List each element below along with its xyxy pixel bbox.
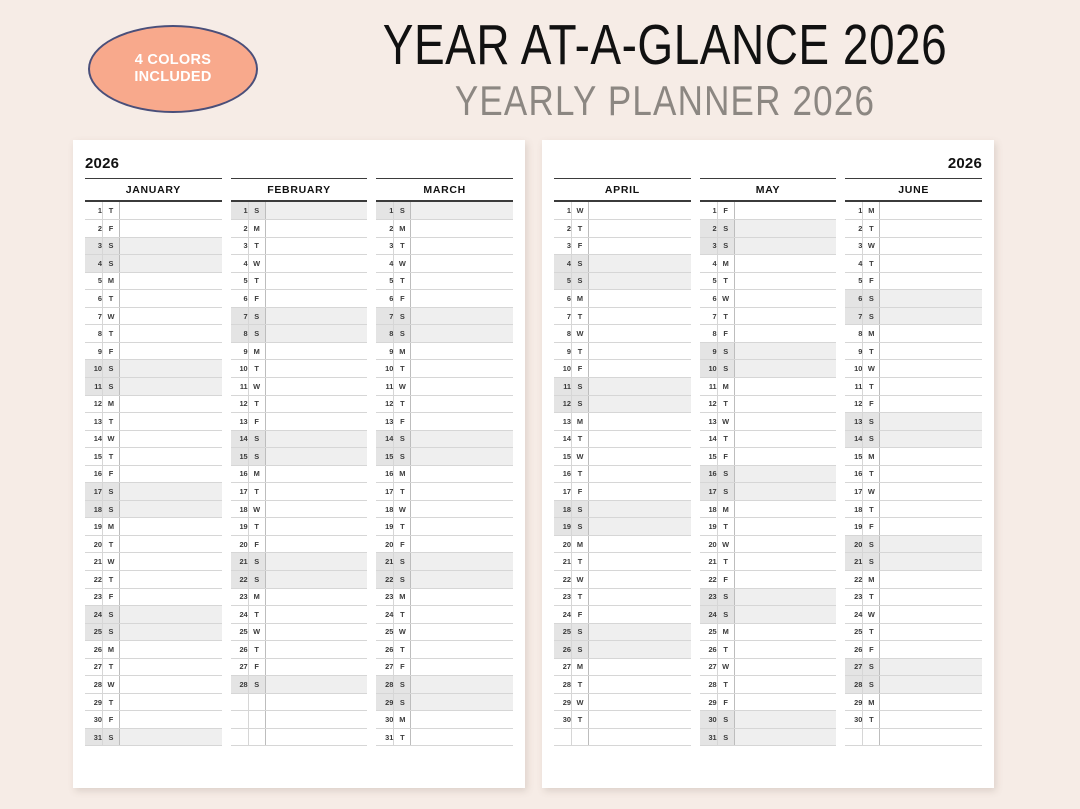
day-number: 6	[376, 290, 394, 308]
day-note-field[interactable]	[411, 430, 513, 448]
day-note-field[interactable]	[120, 693, 222, 711]
day-note-field[interactable]	[880, 360, 982, 378]
day-of-week: S	[717, 606, 734, 624]
day-row: 12T	[700, 395, 837, 413]
day-number: 16	[554, 465, 572, 483]
day-note-field[interactable]	[880, 570, 982, 588]
day-number: 17	[554, 483, 572, 501]
day-note-field[interactable]	[265, 518, 367, 536]
day-note-field[interactable]	[411, 483, 513, 501]
day-note-field[interactable]	[265, 606, 367, 624]
day-note-field[interactable]	[120, 290, 222, 308]
day-note-field[interactable]	[589, 360, 691, 378]
day-number: 12	[554, 395, 572, 413]
day-row: 7S	[376, 307, 513, 325]
day-note-field[interactable]	[734, 255, 836, 273]
day-note-field[interactable]	[265, 360, 367, 378]
day-note-field[interactable]	[734, 658, 836, 676]
day-number: 7	[700, 307, 718, 325]
day-row: 30T	[554, 711, 691, 729]
day-note-field[interactable]	[589, 290, 691, 308]
day-note-field[interactable]	[734, 377, 836, 395]
day-number: 15	[700, 448, 718, 466]
day-row: 16S	[700, 465, 837, 483]
day-note-field[interactable]	[411, 395, 513, 413]
day-note-field[interactable]	[411, 360, 513, 378]
day-note-field[interactable]	[880, 728, 982, 746]
day-of-week: T	[103, 535, 120, 553]
day-note-field[interactable]	[411, 588, 513, 606]
day-row: 15S	[376, 448, 513, 466]
day-row: 11M	[700, 377, 837, 395]
day-note-field[interactable]	[589, 342, 691, 360]
day-note-field[interactable]	[734, 676, 836, 694]
day-of-week: W	[103, 307, 120, 325]
day-note-field[interactable]	[265, 290, 367, 308]
day-note-field[interactable]	[880, 623, 982, 641]
day-number: 11	[700, 377, 718, 395]
day-note-field[interactable]	[265, 623, 367, 641]
day-note-field[interactable]	[880, 588, 982, 606]
day-row: 29T	[85, 693, 222, 711]
day-number: 2	[376, 220, 394, 238]
day-note-field[interactable]	[880, 535, 982, 553]
day-note-field[interactable]	[265, 395, 367, 413]
day-row: 6W	[700, 290, 837, 308]
day-number: 1	[554, 202, 572, 220]
day-note-field[interactable]	[734, 220, 836, 238]
day-note-field[interactable]	[734, 430, 836, 448]
badge-line-1: 4 COLORS	[135, 52, 212, 69]
day-row: 13F	[231, 413, 368, 431]
day-note-field[interactable]	[411, 307, 513, 325]
day-note-field[interactable]	[120, 360, 222, 378]
day-note-field[interactable]	[880, 290, 982, 308]
day-note-field[interactable]	[880, 693, 982, 711]
day-of-week: T	[572, 307, 589, 325]
day-note-field[interactable]	[880, 606, 982, 624]
day-note-field[interactable]	[880, 272, 982, 290]
day-note-field[interactable]	[120, 535, 222, 553]
day-note-field[interactable]	[589, 553, 691, 571]
day-note-field[interactable]	[265, 237, 367, 255]
day-note-field[interactable]	[265, 641, 367, 659]
day-note-field[interactable]	[734, 272, 836, 290]
day-note-field[interactable]	[734, 395, 836, 413]
day-row: 7T	[700, 307, 837, 325]
day-of-week: W	[717, 658, 734, 676]
day-note-field[interactable]	[734, 483, 836, 501]
day-number: 29	[376, 693, 394, 711]
day-of-week: T	[572, 553, 589, 571]
day-note-field[interactable]	[589, 535, 691, 553]
day-number: 28	[231, 676, 249, 694]
day-note-field[interactable]	[411, 202, 513, 220]
day-of-week: T	[103, 325, 120, 343]
day-note-field[interactable]	[265, 377, 367, 395]
day-number: 10	[700, 360, 718, 378]
day-note-field[interactable]	[734, 553, 836, 571]
day-of-week: M	[248, 342, 265, 360]
day-note-field[interactable]	[880, 220, 982, 238]
day-note-field[interactable]	[265, 272, 367, 290]
day-note-field[interactable]	[734, 500, 836, 518]
day-note-field[interactable]	[120, 570, 222, 588]
day-note-field[interactable]	[120, 255, 222, 273]
day-note-field[interactable]	[120, 553, 222, 571]
day-number: 2	[845, 220, 863, 238]
promo-header: 4 COLORS INCLUDED YEAR AT-A-GLANCE 2026 …	[0, 0, 1080, 132]
day-note-field[interactable]	[880, 518, 982, 536]
day-of-week: W	[248, 623, 265, 641]
day-note-field[interactable]	[589, 202, 691, 220]
day-note-field[interactable]	[120, 676, 222, 694]
day-number: 31	[376, 728, 394, 746]
day-row: 4T	[845, 255, 982, 273]
day-row: 7T	[554, 307, 691, 325]
day-note-field[interactable]	[734, 711, 836, 729]
day-note-field[interactable]	[880, 676, 982, 694]
day-note-field[interactable]	[265, 465, 367, 483]
day-note-field[interactable]	[265, 483, 367, 501]
day-note-field[interactable]	[734, 290, 836, 308]
day-row: 5M	[85, 272, 222, 290]
day-row: 5T	[376, 272, 513, 290]
day-note-field[interactable]	[589, 588, 691, 606]
day-note-field[interactable]	[120, 325, 222, 343]
day-of-week: S	[394, 448, 411, 466]
day-note-field[interactable]	[120, 606, 222, 624]
day-note-field[interactable]	[120, 202, 222, 220]
day-note-field[interactable]	[265, 711, 367, 729]
day-note-field[interactable]	[589, 395, 691, 413]
day-note-field[interactable]	[589, 658, 691, 676]
day-note-field[interactable]	[589, 272, 691, 290]
day-note-field[interactable]	[265, 535, 367, 553]
day-number: 11	[231, 377, 249, 395]
day-note-field[interactable]	[734, 342, 836, 360]
day-note-field[interactable]	[411, 413, 513, 431]
day-row: 23M	[231, 588, 368, 606]
day-note-field[interactable]	[120, 483, 222, 501]
day-of-week: T	[572, 465, 589, 483]
day-note-field[interactable]	[411, 535, 513, 553]
day-note-field[interactable]	[880, 325, 982, 343]
day-note-field[interactable]	[880, 658, 982, 676]
day-note-field[interactable]	[734, 588, 836, 606]
month-name-label: FEBRUARY	[231, 178, 368, 202]
day-note-field[interactable]	[589, 413, 691, 431]
day-row: 31S	[85, 728, 222, 746]
day-note-field[interactable]	[265, 220, 367, 238]
day-note-field[interactable]	[265, 570, 367, 588]
day-note-field[interactable]	[265, 676, 367, 694]
day-note-field[interactable]	[589, 623, 691, 641]
day-note-field[interactable]	[734, 237, 836, 255]
day-note-field[interactable]	[265, 728, 367, 746]
day-of-week: S	[103, 377, 120, 395]
day-note-field[interactable]	[411, 570, 513, 588]
day-note-field[interactable]	[880, 553, 982, 571]
day-of-week: S	[103, 500, 120, 518]
day-note-field[interactable]	[411, 255, 513, 273]
day-row: 29F	[700, 693, 837, 711]
day-note-field[interactable]	[120, 307, 222, 325]
day-of-week: M	[394, 588, 411, 606]
day-number: 24	[85, 606, 103, 624]
day-note-field[interactable]	[265, 325, 367, 343]
day-note-field[interactable]	[265, 430, 367, 448]
day-note-field[interactable]	[589, 255, 691, 273]
day-row: 22S	[376, 570, 513, 588]
day-number: 20	[845, 535, 863, 553]
day-note-field[interactable]	[734, 448, 836, 466]
day-note-field[interactable]	[411, 693, 513, 711]
day-note-field[interactable]	[265, 255, 367, 273]
day-number: 28	[554, 676, 572, 694]
title-block: YEAR AT-A-GLANCE 2026 YEARLY PLANNER 202…	[265, 14, 1065, 117]
day-note-field[interactable]	[265, 307, 367, 325]
day-number: 15	[85, 448, 103, 466]
day-note-field[interactable]	[880, 430, 982, 448]
day-of-week: F	[572, 237, 589, 255]
day-note-field[interactable]	[734, 693, 836, 711]
day-of-week: T	[103, 693, 120, 711]
day-number: 11	[85, 377, 103, 395]
day-note-field[interactable]	[589, 430, 691, 448]
day-number: 31	[85, 728, 103, 746]
day-number: 4	[231, 255, 249, 273]
day-note-field[interactable]	[589, 448, 691, 466]
day-number: 27	[845, 658, 863, 676]
day-row: 24W	[845, 606, 982, 624]
day-number: 28	[845, 676, 863, 694]
day-note-field[interactable]	[589, 728, 691, 746]
day-of-week: W	[103, 430, 120, 448]
day-note-field[interactable]	[880, 237, 982, 255]
day-note-field[interactable]	[734, 360, 836, 378]
day-note-field[interactable]	[411, 606, 513, 624]
planner-page-left: 2026 JANUARY1T2F3S4S5M6T7W8T9F10S11S12M1…	[73, 140, 525, 788]
day-number: 5	[700, 272, 718, 290]
day-note-field[interactable]	[734, 325, 836, 343]
day-row: 7S	[845, 307, 982, 325]
day-note-field[interactable]	[589, 518, 691, 536]
day-note-field[interactable]	[265, 500, 367, 518]
day-note-field[interactable]	[589, 606, 691, 624]
day-note-field[interactable]	[411, 220, 513, 238]
day-row	[845, 728, 982, 746]
day-note-field[interactable]	[734, 202, 836, 220]
day-note-field[interactable]	[120, 500, 222, 518]
day-note-field[interactable]	[120, 658, 222, 676]
day-row: 26S	[554, 641, 691, 659]
day-of-week: M	[863, 202, 880, 220]
day-note-field[interactable]	[265, 202, 367, 220]
day-note-field[interactable]	[120, 588, 222, 606]
day-number: 18	[85, 500, 103, 518]
day-note-field[interactable]	[589, 711, 691, 729]
day-row: 18S	[554, 500, 691, 518]
day-row: 22M	[845, 570, 982, 588]
day-note-field[interactable]	[880, 465, 982, 483]
day-note-field[interactable]	[411, 676, 513, 694]
day-number: 3	[85, 237, 103, 255]
day-note-field[interactable]	[411, 641, 513, 659]
day-note-field[interactable]	[880, 448, 982, 466]
day-note-field[interactable]	[265, 448, 367, 466]
day-note-field[interactable]	[411, 518, 513, 536]
day-of-week: T	[863, 377, 880, 395]
day-note-field[interactable]	[120, 272, 222, 290]
day-row: 20F	[376, 535, 513, 553]
day-note-field[interactable]	[734, 641, 836, 659]
day-note-field[interactable]	[265, 342, 367, 360]
day-note-field[interactable]	[589, 641, 691, 659]
day-of-week: S	[572, 272, 589, 290]
day-note-field[interactable]	[589, 465, 691, 483]
day-note-field[interactable]	[880, 483, 982, 501]
day-number: 8	[376, 325, 394, 343]
day-note-field[interactable]	[120, 641, 222, 659]
day-note-field[interactable]	[120, 377, 222, 395]
day-note-field[interactable]	[734, 606, 836, 624]
day-row: 4S	[85, 255, 222, 273]
day-note-field[interactable]	[120, 342, 222, 360]
day-note-field[interactable]	[880, 307, 982, 325]
day-row: 24T	[231, 606, 368, 624]
day-number: 8	[85, 325, 103, 343]
day-row: 24F	[554, 606, 691, 624]
day-number: 12	[85, 395, 103, 413]
day-of-week: T	[394, 641, 411, 659]
day-note-field[interactable]	[120, 413, 222, 431]
day-note-field[interactable]	[589, 325, 691, 343]
day-row: 19M	[85, 518, 222, 536]
day-note-field[interactable]	[589, 307, 691, 325]
day-note-field[interactable]	[265, 693, 367, 711]
day-note-field[interactable]	[589, 237, 691, 255]
day-note-field[interactable]	[120, 728, 222, 746]
day-of-week: S	[394, 553, 411, 571]
month-day-grid: 1F2S3S4M5T6W7T8F9S10S11M12T13W14T15F16S1…	[700, 202, 837, 746]
day-note-field[interactable]	[589, 570, 691, 588]
day-of-week: T	[863, 465, 880, 483]
day-number: 26	[376, 641, 394, 659]
day-note-field[interactable]	[265, 413, 367, 431]
day-note-field[interactable]	[120, 220, 222, 238]
day-note-field[interactable]	[734, 623, 836, 641]
day-note-field[interactable]	[880, 413, 982, 431]
day-note-field[interactable]	[589, 500, 691, 518]
day-note-field[interactable]	[411, 342, 513, 360]
day-note-field[interactable]	[880, 395, 982, 413]
day-note-field[interactable]	[120, 711, 222, 729]
day-number: 3	[554, 237, 572, 255]
day-of-week: S	[717, 728, 734, 746]
day-number: 10	[85, 360, 103, 378]
day-number: 23	[845, 588, 863, 606]
day-note-field[interactable]	[411, 553, 513, 571]
day-note-field[interactable]	[734, 413, 836, 431]
day-note-field[interactable]	[411, 290, 513, 308]
day-number: 23	[554, 588, 572, 606]
day-number: 31	[700, 728, 718, 746]
day-number: 26	[700, 641, 718, 659]
day-note-field[interactable]	[734, 518, 836, 536]
day-row: 12M	[85, 395, 222, 413]
day-of-week: F	[394, 413, 411, 431]
day-note-field[interactable]	[734, 535, 836, 553]
day-note-field[interactable]	[411, 658, 513, 676]
day-row: 5T	[231, 272, 368, 290]
day-note-field[interactable]	[880, 500, 982, 518]
day-note-field[interactable]	[880, 711, 982, 729]
day-note-field[interactable]	[411, 325, 513, 343]
day-note-field[interactable]	[734, 728, 836, 746]
day-note-field[interactable]	[411, 623, 513, 641]
day-note-field[interactable]	[589, 676, 691, 694]
day-note-field[interactable]	[880, 255, 982, 273]
day-note-field[interactable]	[411, 237, 513, 255]
day-note-field[interactable]	[734, 465, 836, 483]
day-note-field[interactable]	[265, 588, 367, 606]
day-of-week: F	[103, 711, 120, 729]
day-of-week: F	[717, 693, 734, 711]
day-note-field[interactable]	[411, 272, 513, 290]
day-row: 20S	[845, 535, 982, 553]
day-note-field[interactable]	[589, 483, 691, 501]
day-note-field[interactable]	[411, 728, 513, 746]
day-number: 10	[231, 360, 249, 378]
day-note-field[interactable]	[120, 395, 222, 413]
day-row: 18S	[85, 500, 222, 518]
day-row: 17S	[700, 483, 837, 501]
day-of-week: F	[394, 290, 411, 308]
day-of-week: T	[248, 641, 265, 659]
day-note-field[interactable]	[265, 553, 367, 571]
day-of-week: F	[103, 465, 120, 483]
day-number: 27	[231, 658, 249, 676]
day-of-week: T	[394, 237, 411, 255]
day-note-field[interactable]	[120, 465, 222, 483]
day-note-field[interactable]	[411, 448, 513, 466]
day-note-field[interactable]	[589, 220, 691, 238]
day-note-field[interactable]	[734, 570, 836, 588]
day-note-field[interactable]	[411, 500, 513, 518]
day-note-field[interactable]	[880, 377, 982, 395]
day-note-field[interactable]	[120, 430, 222, 448]
day-note-field[interactable]	[589, 693, 691, 711]
day-note-field[interactable]	[120, 623, 222, 641]
day-row: 21S	[845, 553, 982, 571]
day-note-field[interactable]	[734, 307, 836, 325]
day-note-field[interactable]	[880, 641, 982, 659]
day-number: 7	[376, 307, 394, 325]
day-note-field[interactable]	[120, 237, 222, 255]
day-note-field[interactable]	[589, 377, 691, 395]
day-note-field[interactable]	[411, 465, 513, 483]
day-note-field[interactable]	[265, 658, 367, 676]
day-number: 1	[845, 202, 863, 220]
day-note-field[interactable]	[411, 377, 513, 395]
day-note-field[interactable]	[411, 711, 513, 729]
day-note-field[interactable]	[120, 448, 222, 466]
day-number: 6	[231, 290, 249, 308]
day-note-field[interactable]	[880, 202, 982, 220]
day-note-field[interactable]	[880, 342, 982, 360]
day-note-field[interactable]	[120, 518, 222, 536]
